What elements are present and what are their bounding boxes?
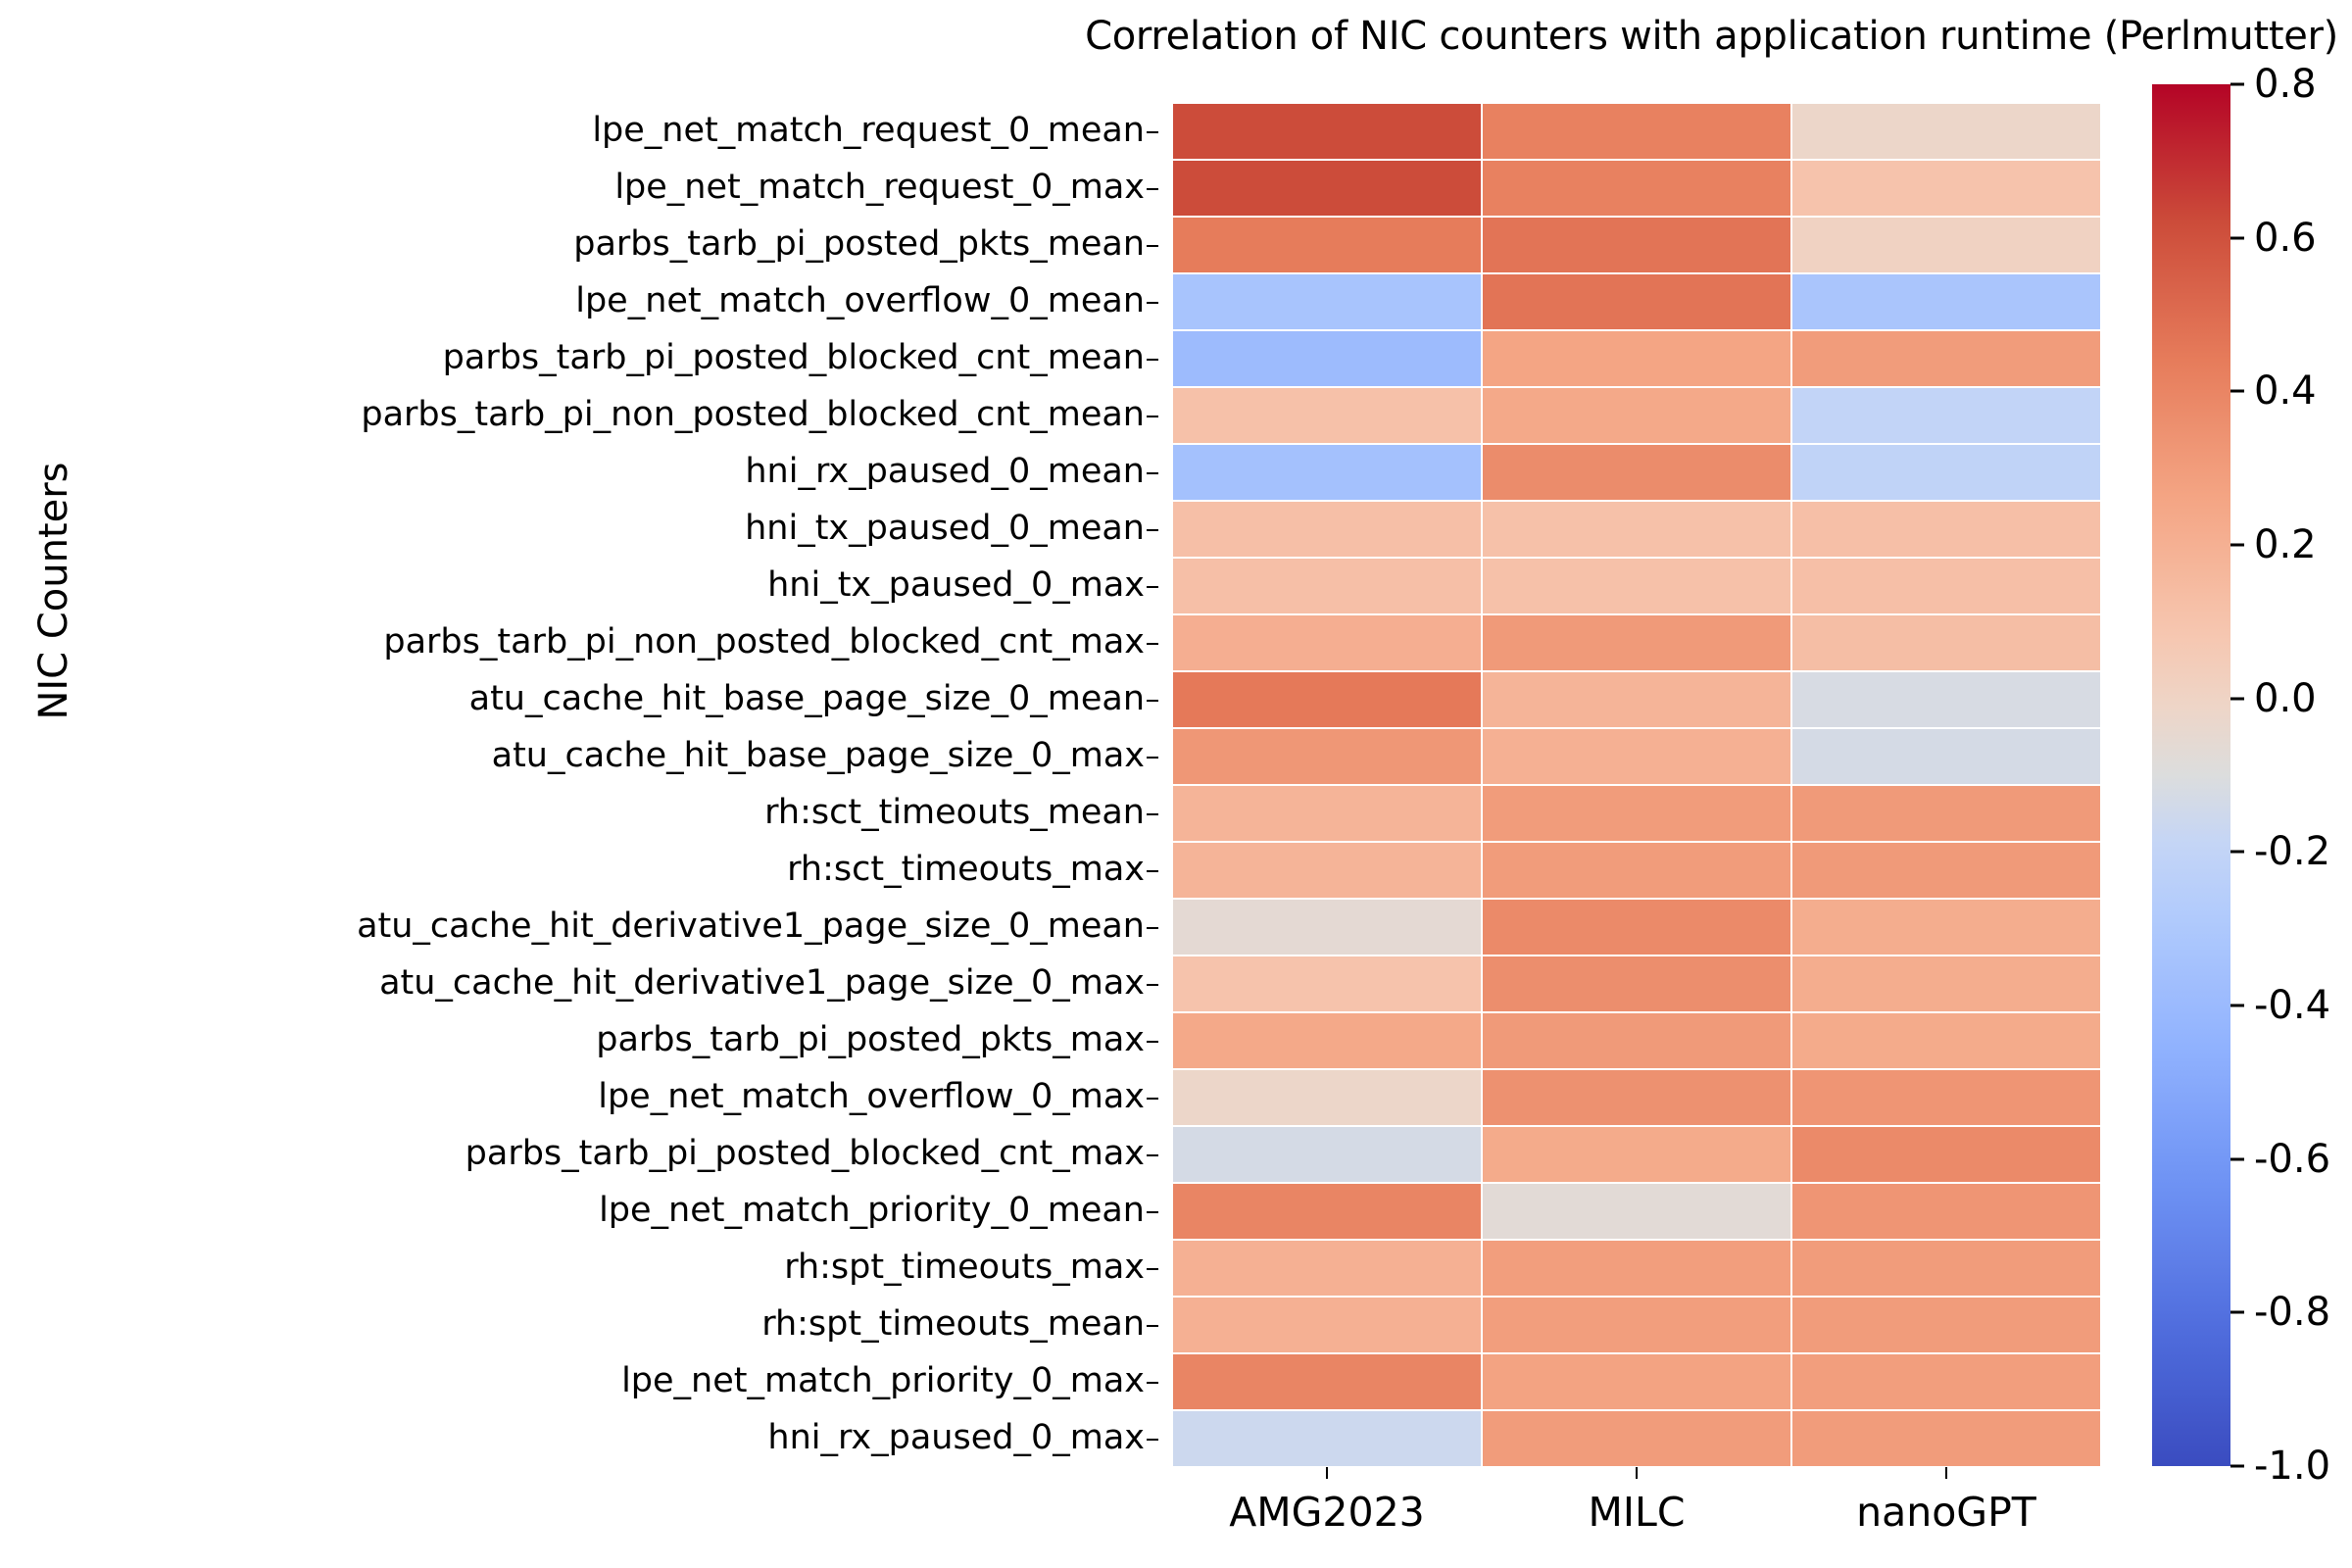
y-axis-tick-label: lpe_net_match_request_0_max xyxy=(0,171,1145,205)
heatmap-cell xyxy=(1172,1353,1482,1410)
y-axis-tick-label: rh:sct_timeouts_mean xyxy=(0,796,1145,830)
heatmap-cell xyxy=(1482,558,1791,614)
heatmap-row xyxy=(1172,1069,2101,1126)
colorbar-gradient xyxy=(2152,84,2230,1466)
heatmap-cell xyxy=(1482,160,1791,217)
heatmap-row xyxy=(1172,558,2101,614)
colorbar-tick-mark xyxy=(2230,544,2244,547)
heatmap-cell xyxy=(1172,728,1482,785)
heatmap-cell xyxy=(1482,1297,1791,1353)
y-axis-tick-label: lpe_net_match_priority_0_mean xyxy=(0,1194,1145,1228)
heatmap-cell xyxy=(1172,444,1482,501)
heatmap-row xyxy=(1172,1240,2101,1297)
y-axis-tick-label: lpe_net_match_overflow_0_mean xyxy=(0,284,1145,318)
colorbar-tick-labels: 0.80.60.40.20.0-0.2-0.4-0.6-0.8-1.0 xyxy=(2230,84,2352,1466)
heatmap-cell xyxy=(1791,1126,2101,1183)
y-axis-tick-mark xyxy=(1147,927,1158,929)
heatmap-cell xyxy=(1791,160,2101,217)
heatmap-cell xyxy=(1482,1410,1791,1467)
y-axis-tick-label: parbs_tarb_pi_posted_blocked_cnt_mean xyxy=(0,341,1145,375)
y-axis-tick-mark xyxy=(1147,1325,1158,1327)
y-axis-tick-mark xyxy=(1147,700,1158,702)
colorbar-tick-label: -0.8 xyxy=(2254,1293,2330,1332)
heatmap-row xyxy=(1172,1297,2101,1353)
y-axis-tick-mark xyxy=(1147,813,1158,815)
x-axis-tick-mark xyxy=(1945,1467,1947,1479)
y-axis-tick-label: parbs_tarb_pi_posted_blocked_cnt_max xyxy=(0,1137,1145,1171)
heatmap-cell xyxy=(1791,103,2101,160)
heatmap-cell xyxy=(1791,1183,2101,1240)
heatmap-cell xyxy=(1172,1126,1482,1183)
y-axis-tick-label: lpe_net_match_overflow_0_max xyxy=(0,1080,1145,1114)
heatmap-cell xyxy=(1482,728,1791,785)
y-axis-tick-label: atu_cache_hit_derivative1_page_size_0_me… xyxy=(0,909,1145,944)
heatmap-row xyxy=(1172,955,2101,1012)
heatmap-cell xyxy=(1172,1183,1482,1240)
heatmap-row xyxy=(1172,273,2101,330)
colorbar-tick-label: -0.2 xyxy=(2254,832,2330,871)
colorbar-tick-label: 0.2 xyxy=(2254,525,2317,564)
y-axis-tick-mark xyxy=(1147,757,1158,759)
y-axis-tick-mark xyxy=(1147,529,1158,531)
heatmap-row xyxy=(1172,1353,2101,1410)
heatmap-cell xyxy=(1791,1069,2101,1126)
heatmap-cell xyxy=(1172,217,1482,273)
x-axis-tick-label: nanoGPT xyxy=(1791,1489,2101,1536)
heatmap-cell xyxy=(1482,103,1791,160)
heatmap-cell xyxy=(1172,558,1482,614)
heatmap-cell xyxy=(1172,1410,1482,1467)
chart-title: Correlation of NIC counters with applica… xyxy=(0,14,2352,59)
colorbar-tick-mark xyxy=(2230,390,2244,393)
colorbar-tick-label: -0.6 xyxy=(2254,1140,2330,1179)
heatmap-cell xyxy=(1791,785,2101,842)
heatmap-cell xyxy=(1791,330,2101,387)
y-axis-tick-label: atu_cache_hit_base_page_size_0_max xyxy=(0,739,1145,773)
heatmap-cell xyxy=(1791,614,2101,671)
x-axis-tick-mark xyxy=(1636,1467,1638,1479)
x-axis-tick: MILC xyxy=(1482,1467,1791,1536)
heatmap-cell xyxy=(1172,1297,1482,1353)
heatmap-cell xyxy=(1482,444,1791,501)
colorbar-tick-mark xyxy=(2230,697,2244,700)
heatmap-cell xyxy=(1791,217,2101,273)
y-axis-tick-label: atu_cache_hit_base_page_size_0_mean xyxy=(0,682,1145,716)
heatmap-cell xyxy=(1172,501,1482,558)
colorbar-tick-label: -1.0 xyxy=(2254,1446,2330,1486)
heatmap-cell xyxy=(1482,330,1791,387)
heatmap-row xyxy=(1172,330,2101,387)
heatmap-row xyxy=(1172,444,2101,501)
y-axis-tick-mark xyxy=(1147,302,1158,304)
heatmap-grid xyxy=(1172,103,2101,1467)
heatmap-row xyxy=(1172,671,2101,728)
y-axis-tick-mark xyxy=(1147,1154,1158,1156)
heatmap-cell xyxy=(1791,899,2101,955)
y-axis-tick-label: parbs_tarb_pi_non_posted_blocked_cnt_max xyxy=(0,625,1145,660)
heatmap-cell xyxy=(1172,899,1482,955)
y-axis-tick-mark xyxy=(1147,416,1158,417)
colorbar-tick-label: 0.0 xyxy=(2254,679,2317,718)
x-axis-tick-label: MILC xyxy=(1482,1489,1791,1536)
heatmap-cell xyxy=(1482,1240,1791,1297)
y-axis-tick-mark xyxy=(1147,984,1158,986)
heatmap-cell xyxy=(1791,1353,2101,1410)
colorbar-tick-mark xyxy=(2230,1311,2244,1314)
heatmap-cell xyxy=(1791,728,2101,785)
y-axis-tick-label: parbs_tarb_pi_non_posted_blocked_cnt_mea… xyxy=(0,398,1145,432)
heatmap-cell xyxy=(1172,842,1482,899)
heatmap-cell xyxy=(1172,1012,1482,1069)
heatmap-cell xyxy=(1482,1353,1791,1410)
heatmap-cell xyxy=(1791,1297,2101,1353)
y-axis-tick-label: rh:spt_timeouts_max xyxy=(0,1250,1145,1285)
colorbar-tick-mark xyxy=(2230,1157,2244,1160)
heatmap-cell xyxy=(1482,217,1791,273)
heatmap-cell xyxy=(1482,955,1791,1012)
heatmap-cell xyxy=(1482,1126,1791,1183)
heatmap-cell xyxy=(1791,1012,2101,1069)
x-axis-tick: nanoGPT xyxy=(1791,1467,2101,1536)
heatmap-cell xyxy=(1791,842,2101,899)
y-axis-tick-mark xyxy=(1147,586,1158,588)
heatmap-row xyxy=(1172,217,2101,273)
heatmap-cell xyxy=(1482,842,1791,899)
heatmap-cell xyxy=(1482,785,1791,842)
colorbar-tick-label: 0.8 xyxy=(2254,65,2317,104)
y-axis-tick-label: parbs_tarb_pi_posted_pkts_mean xyxy=(0,227,1145,262)
colorbar-tick-label: -0.4 xyxy=(2254,986,2330,1025)
y-axis-tick-mark xyxy=(1147,1268,1158,1270)
colorbar: 0.80.60.40.20.0-0.2-0.4-0.6-0.8-1.0 xyxy=(2152,84,2230,1466)
colorbar-tick-mark xyxy=(2230,1004,2244,1007)
heatmap-row xyxy=(1172,614,2101,671)
y-axis-tick-label: hni_tx_paused_0_mean xyxy=(0,512,1145,546)
y-axis-tick-label: hni_rx_paused_0_mean xyxy=(0,455,1145,489)
heatmap-row xyxy=(1172,103,2101,160)
heatmap-row xyxy=(1172,1126,2101,1183)
x-axis-tick-label: AMG2023 xyxy=(1172,1489,1482,1536)
x-axis-tick-labels: AMG2023MILCnanoGPT xyxy=(1172,1467,2101,1536)
y-axis-tick-mark xyxy=(1147,245,1158,247)
colorbar-tick-mark xyxy=(2230,83,2244,86)
heatmap-cell xyxy=(1482,1183,1791,1240)
heatmap-row xyxy=(1172,1410,2101,1467)
x-axis-tick-mark xyxy=(1326,1467,1328,1479)
heatmap-cell xyxy=(1791,558,2101,614)
colorbar-tick-label: 0.6 xyxy=(2254,219,2317,258)
colorbar-tick-mark xyxy=(2230,851,2244,854)
y-axis-tick-mark xyxy=(1147,131,1158,133)
y-axis-tick-label: rh:sct_timeouts_max xyxy=(0,853,1145,887)
colorbar-tick-label: 0.4 xyxy=(2254,371,2317,411)
heatmap-row xyxy=(1172,899,2101,955)
heatmap-cell xyxy=(1172,330,1482,387)
y-axis-tick-label: parbs_tarb_pi_posted_pkts_max xyxy=(0,1023,1145,1057)
heatmap-cell xyxy=(1482,1069,1791,1126)
heatmap-figure: Correlation of NIC counters with applica… xyxy=(0,0,2352,1568)
heatmap-cell xyxy=(1482,614,1791,671)
heatmap-cell xyxy=(1172,103,1482,160)
y-axis-tick-mark xyxy=(1147,1439,1158,1441)
y-axis-tick-mark xyxy=(1147,1041,1158,1043)
y-axis-tick-mark xyxy=(1147,1098,1158,1100)
heatmap-cell xyxy=(1791,1410,2101,1467)
heatmap-cell xyxy=(1172,671,1482,728)
heatmap-cell xyxy=(1791,955,2101,1012)
heatmap-cell xyxy=(1482,899,1791,955)
heatmap-cell xyxy=(1791,501,2101,558)
heatmap-cell xyxy=(1172,785,1482,842)
colorbar-tick-mark xyxy=(2230,236,2244,239)
y-axis-tick-mark xyxy=(1147,1211,1158,1213)
heatmap-row xyxy=(1172,728,2101,785)
heatmap-cell xyxy=(1172,1240,1482,1297)
heatmap-cell xyxy=(1482,273,1791,330)
y-axis-tick-label: atu_cache_hit_derivative1_page_size_0_ma… xyxy=(0,966,1145,1001)
heatmap-row xyxy=(1172,1012,2101,1069)
y-axis-tick-label: hni_rx_paused_0_max xyxy=(0,1421,1145,1455)
heatmap-cell xyxy=(1172,955,1482,1012)
heatmap-cell xyxy=(1172,273,1482,330)
heatmap-cell xyxy=(1791,444,2101,501)
heatmap-cell xyxy=(1791,1240,2101,1297)
y-axis-tick-mark xyxy=(1147,1382,1158,1384)
heatmap-cell xyxy=(1482,671,1791,728)
heatmap-cell xyxy=(1172,387,1482,444)
colorbar-tick-mark xyxy=(2230,1465,2244,1468)
x-axis-tick: AMG2023 xyxy=(1172,1467,1482,1536)
y-axis-tick-label: lpe_net_match_priority_0_max xyxy=(0,1364,1145,1398)
heatmap-row xyxy=(1172,387,2101,444)
y-axis-tick-mark xyxy=(1147,359,1158,361)
heatmap-cell xyxy=(1172,1069,1482,1126)
heatmap-cell xyxy=(1172,160,1482,217)
heatmap-row xyxy=(1172,1183,2101,1240)
y-axis-tick-label: rh:spt_timeouts_mean xyxy=(0,1307,1145,1342)
heatmap-cell xyxy=(1482,387,1791,444)
y-axis-tick-label: hni_tx_paused_0_max xyxy=(0,568,1145,603)
heatmap-row xyxy=(1172,785,2101,842)
y-axis-tick-labels: lpe_net_match_request_0_meanlpe_net_matc… xyxy=(0,103,1145,1467)
y-axis-tick-mark xyxy=(1147,188,1158,190)
heatmap-cell xyxy=(1172,614,1482,671)
heatmap-cell xyxy=(1791,671,2101,728)
heatmap-row xyxy=(1172,842,2101,899)
heatmap-row xyxy=(1172,501,2101,558)
y-axis-tick-mark xyxy=(1147,643,1158,645)
y-axis-tick-label: lpe_net_match_request_0_mean xyxy=(0,114,1145,148)
heatmap-row xyxy=(1172,160,2101,217)
y-axis-tick-mark xyxy=(1147,472,1158,474)
heatmap-cell xyxy=(1482,1012,1791,1069)
heatmap-cell xyxy=(1791,387,2101,444)
heatmap-cell xyxy=(1791,273,2101,330)
y-axis-tick-mark xyxy=(1147,870,1158,872)
heatmap-cell xyxy=(1482,501,1791,558)
